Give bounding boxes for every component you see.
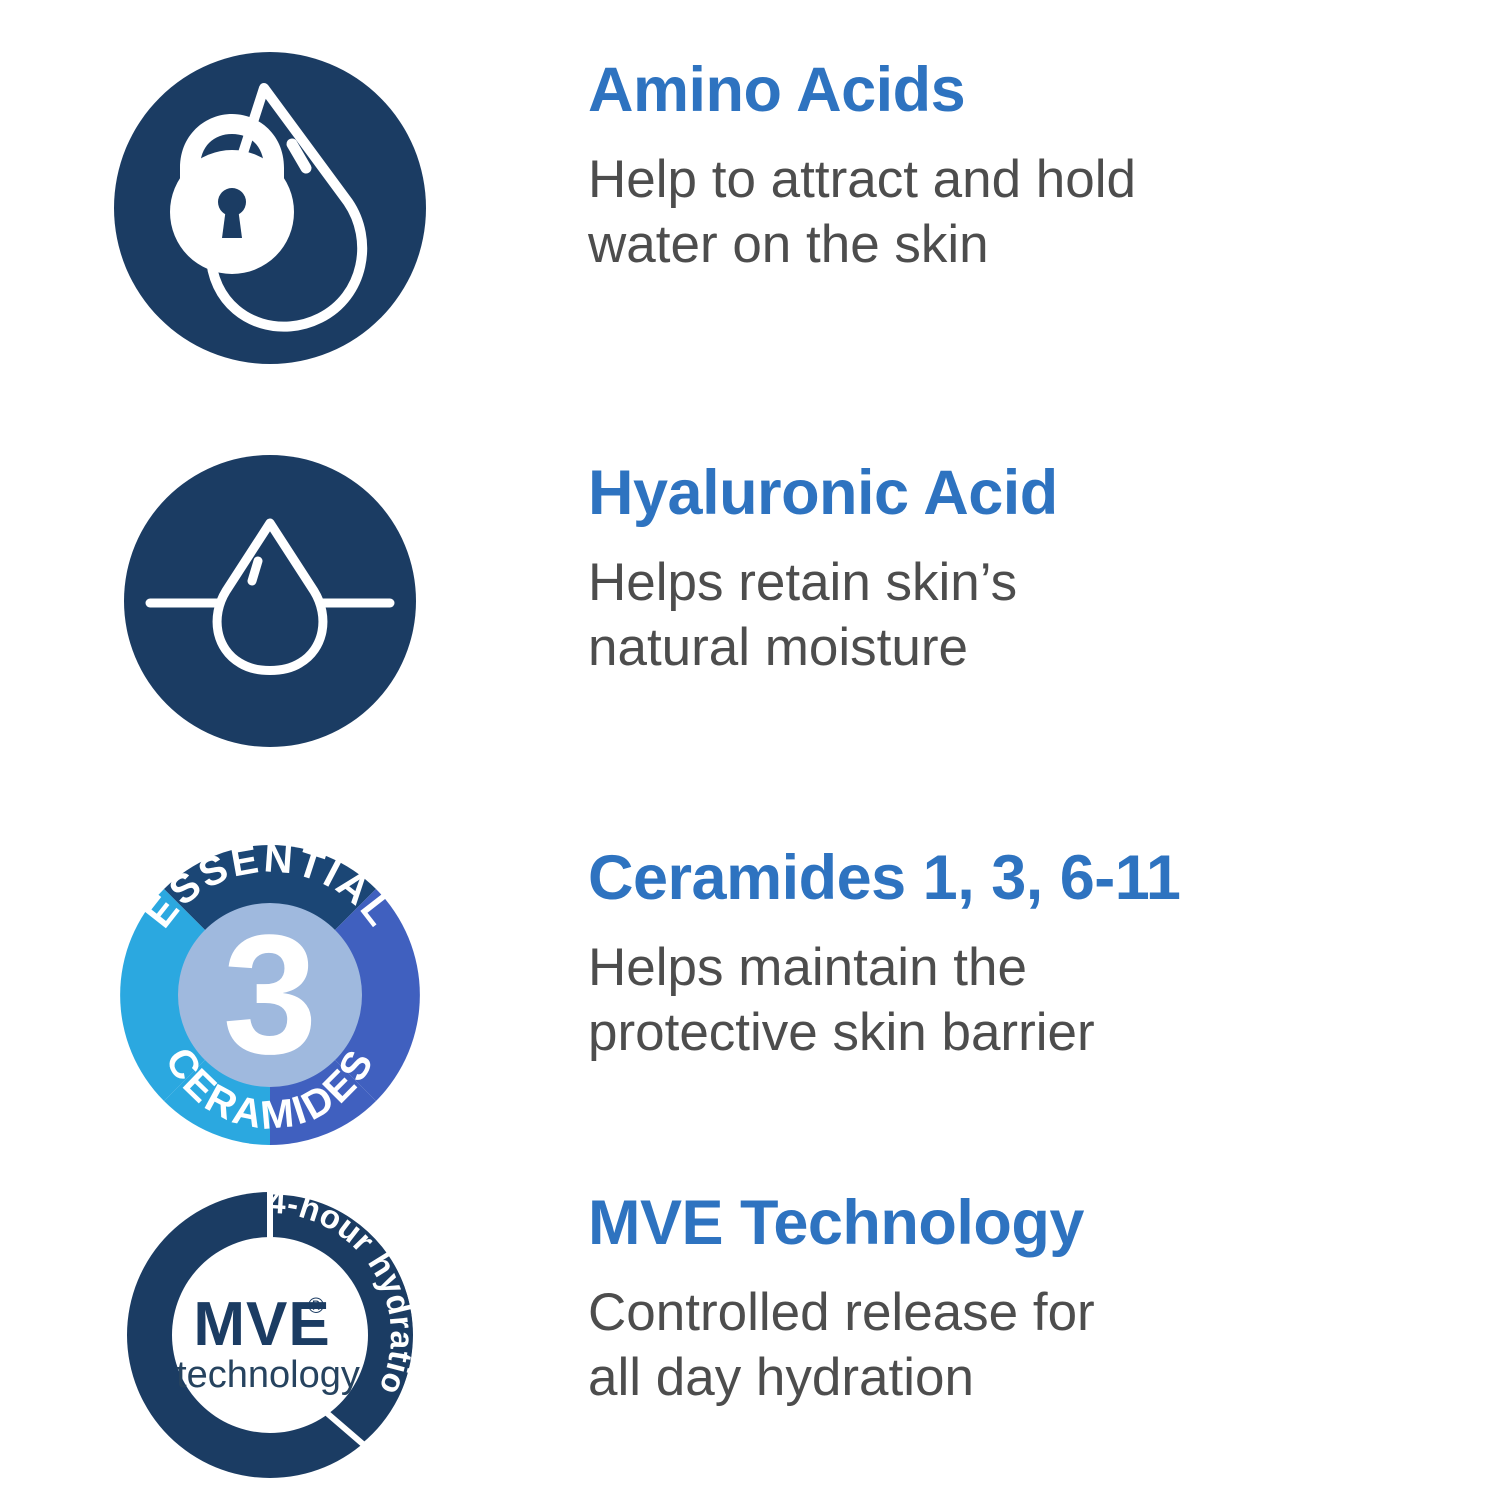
feature-title-mve-technology: MVE Technology bbox=[588, 1191, 1500, 1255]
feature-description-ceramides: Helps maintain the protective skin barri… bbox=[588, 936, 1500, 1065]
icon-cell-amino-acids bbox=[0, 52, 540, 364]
feature-title-ceramides: Ceramides 1, 3, 6-11 bbox=[588, 846, 1500, 910]
infographic-page: Amino Acids Help to attract and hold wat… bbox=[0, 0, 1500, 1500]
feature-description-line: Help to attract and hold bbox=[588, 148, 1500, 213]
feature-row-hyaluronic-acid: Hyaluronic Acid Helps retain skin’s natu… bbox=[0, 455, 1500, 747]
droplet-water-level-icon bbox=[124, 455, 416, 747]
feature-title-hyaluronic-acid: Hyaluronic Acid bbox=[588, 461, 1500, 525]
feature-description-amino-acids: Help to attract and hold water on the sk… bbox=[588, 148, 1500, 277]
feature-row-amino-acids: Amino Acids Help to attract and hold wat… bbox=[0, 52, 1500, 364]
text-cell-hyaluronic-acid: Hyaluronic Acid Helps retain skin’s natu… bbox=[540, 455, 1500, 681]
mve-technology-badge-icon: 24-hour hydration MVE ® technology bbox=[120, 1185, 420, 1485]
lock-droplet-icon bbox=[114, 52, 426, 364]
feature-description-line: water on the skin bbox=[588, 213, 1500, 278]
feature-description-hyaluronic-acid: Helps retain skin’s natural moisture bbox=[588, 551, 1500, 680]
ceramides-center-number: 3 bbox=[223, 900, 318, 1090]
feature-description-mve-technology: Controlled release for all day hydration bbox=[588, 1281, 1500, 1410]
mve-center-sub: technology bbox=[176, 1354, 360, 1396]
icon-cell-hyaluronic-acid bbox=[0, 455, 540, 747]
feature-title-amino-acids: Amino Acids bbox=[588, 58, 1500, 122]
feature-description-line: Helps retain skin’s bbox=[588, 551, 1500, 616]
text-cell-amino-acids: Amino Acids Help to attract and hold wat… bbox=[540, 52, 1500, 278]
text-cell-mve-technology: MVE Technology Controlled release for al… bbox=[540, 1185, 1500, 1411]
feature-description-line: Helps maintain the bbox=[588, 936, 1500, 1001]
feature-description-line: natural moisture bbox=[588, 616, 1500, 681]
icon-cell-mve-technology: 24-hour hydration MVE ® technology bbox=[0, 1185, 540, 1485]
icon-cell-ceramides: 3 ESSENTIAL CERAMIDES bbox=[0, 840, 540, 1150]
feature-description-line: protective skin barrier bbox=[588, 1001, 1500, 1066]
feature-row-mve-technology: 24-hour hydration MVE ® technology MVE T… bbox=[0, 1185, 1500, 1485]
essential-3-ceramides-badge-icon: 3 ESSENTIAL CERAMIDES bbox=[115, 840, 425, 1150]
text-cell-ceramides: Ceramides 1, 3, 6-11 Helps maintain the … bbox=[540, 840, 1500, 1066]
feature-row-ceramides: 3 ESSENTIAL CERAMIDES Ceramides 1, 3, 6-… bbox=[0, 840, 1500, 1150]
feature-description-line: Controlled release for bbox=[588, 1281, 1500, 1346]
mve-registered-mark: ® bbox=[308, 1293, 324, 1318]
feature-description-line: all day hydration bbox=[588, 1346, 1500, 1411]
